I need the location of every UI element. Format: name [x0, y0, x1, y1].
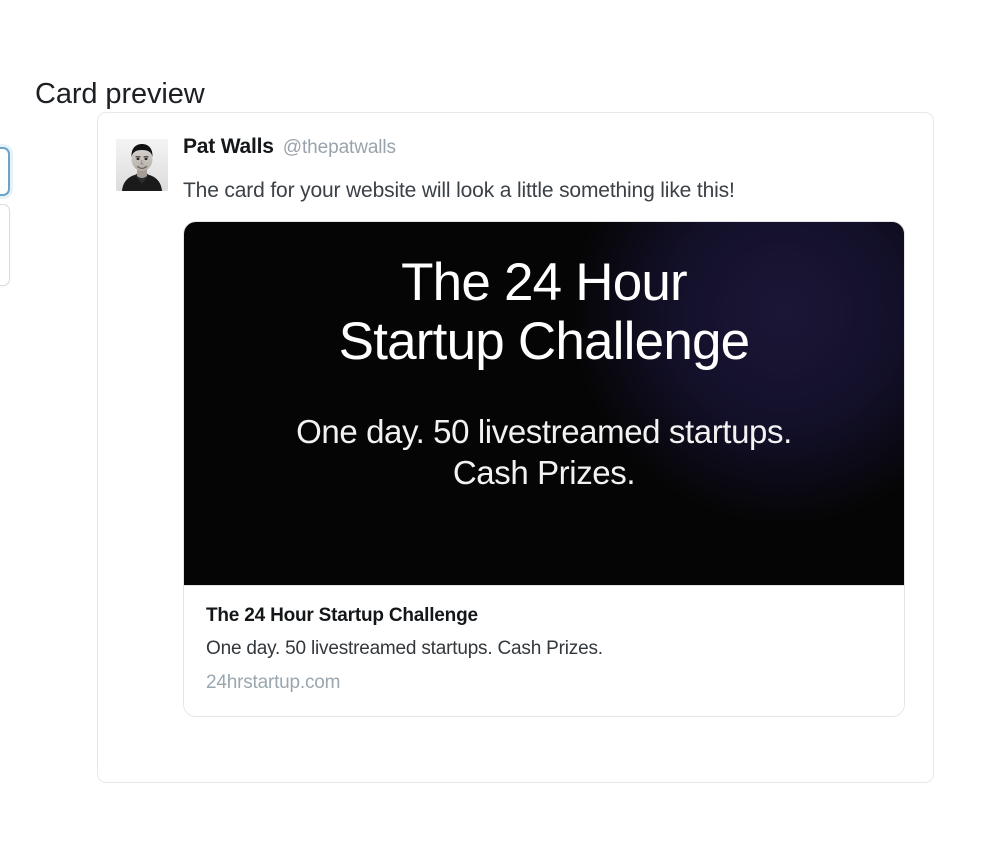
focused-input[interactable] — [0, 147, 10, 196]
card-preview-panel: Pat Walls @thepatwalls The card for your… — [97, 112, 934, 783]
avatar[interactable] — [116, 139, 168, 191]
author-display-name[interactable]: Pat Walls — [183, 135, 274, 159]
hero-subtitle: One day. 50 livestreamed startups. Cash … — [184, 411, 904, 494]
secondary-input[interactable] — [0, 204, 10, 286]
page-title: Card preview — [35, 76, 205, 112]
tweet-author-row: Pat Walls @thepatwalls — [183, 135, 915, 163]
hero-subtitle-line-1: One day. 50 livestreamed startups. — [184, 411, 904, 452]
hero-title-line-1: The 24 Hour — [184, 254, 904, 313]
hero-title: The 24 Hour Startup Challenge — [184, 254, 904, 372]
link-card-meta: The 24 Hour Startup Challenge One day. 5… — [184, 585, 904, 716]
link-card-hero-image: The 24 Hour Startup Challenge One day. 5… — [184, 222, 904, 585]
tweet-header: Pat Walls @thepatwalls The card for your… — [116, 135, 915, 717]
link-card-domain: 24hrstartup.com — [206, 671, 882, 695]
tweet-body: Pat Walls @thepatwalls The card for your… — [183, 135, 915, 717]
link-preview-card[interactable]: The 24 Hour Startup Challenge One day. 5… — [183, 221, 905, 717]
hero-subtitle-line-2: Cash Prizes. — [184, 452, 904, 493]
tweet-preview: Pat Walls @thepatwalls The card for your… — [116, 135, 915, 717]
link-card-title: The 24 Hour Startup Challenge — [206, 604, 882, 628]
hero-title-line-2: Startup Challenge — [184, 313, 904, 372]
tweet-text: The card for your website will look a li… — [183, 177, 915, 204]
link-card-description: One day. 50 livestreamed startups. Cash … — [206, 637, 882, 661]
author-handle[interactable]: @thepatwalls — [283, 137, 396, 159]
